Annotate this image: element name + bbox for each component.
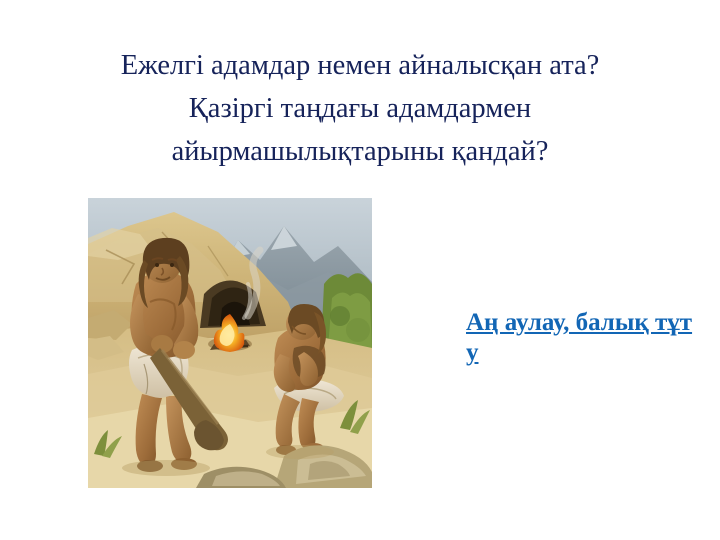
hunting-fishing-link[interactable]: Аң аулау, балық тұту [466, 308, 702, 368]
title-line-1: Ежелгі адамдар немен айналысқан ата? [30, 44, 690, 87]
illustration-artwork [88, 198, 372, 488]
title-line-3: айырмашылықтарыны қандай? [30, 130, 690, 173]
page-title: Ежелгі адамдар немен айналысқан ата? Қаз… [30, 44, 690, 173]
hunting-fishing-link-text: Аң аулау, балық тұту [466, 309, 692, 366]
prehistoric-people-campfire-illustration [88, 198, 372, 488]
slide-canvas: Ежелгі адамдар немен айналысқан ата? Қаз… [0, 0, 720, 540]
title-line-2: Қазіргі таңдағы адамдармен [30, 87, 690, 130]
